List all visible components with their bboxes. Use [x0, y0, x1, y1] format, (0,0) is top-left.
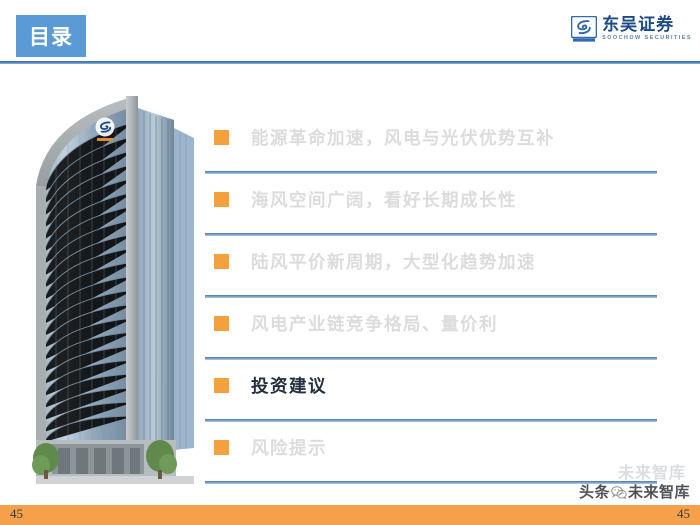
toc-row: 陆风平价新周期，大型化趋势加速 — [205, 236, 657, 286]
page-title-box: 目录 — [16, 15, 86, 57]
toc-row: 风险提示 — [205, 422, 657, 472]
page-number-left: 45 — [10, 506, 23, 522]
toc-item-6[interactable]: 风险提示 — [205, 422, 657, 484]
orange-square-bullet-icon — [214, 130, 229, 145]
wechat-icon — [611, 485, 627, 498]
slide-header: 目录 东吴证券 SOOCHOW SECURITIES — [0, 0, 700, 66]
toc-item-label: 陆风平价新周期，大型化趋势加速 — [251, 249, 536, 274]
soochow-swirl-mark-icon — [571, 16, 597, 42]
logo-name-cn: 东吴证券 — [602, 17, 692, 34]
watermark-main: 头条 未来智库 — [579, 481, 690, 502]
toc-item-label: 风险提示 — [251, 435, 327, 460]
watermark-suffix: 未来智库 — [628, 481, 690, 502]
toc-item-5-active[interactable]: 投资建议 — [205, 360, 657, 422]
toc-item-4[interactable]: 风电产业链竞争格局、量价利 — [205, 298, 657, 360]
logo-text-group: 东吴证券 SOOCHOW SECURITIES — [602, 17, 692, 41]
footer-bar: 45 45 — [0, 505, 700, 525]
page-number-right: 45 — [677, 506, 690, 522]
toc-row: 海风空间广阔，看好长期成长性 — [205, 174, 657, 224]
orange-square-bullet-icon — [214, 440, 229, 455]
page-title: 目录 — [29, 21, 73, 51]
toc-divider — [205, 481, 657, 484]
table-of-contents: 能源革命加速，风电与光伏优势互补 海风空间广阔，看好长期成长性 陆风平价新周期，… — [205, 112, 657, 484]
toc-item-2[interactable]: 海风空间广阔，看好长期成长性 — [205, 174, 657, 236]
toc-row: 能源革命加速，风电与光伏优势互补 — [205, 112, 657, 162]
office-building-photo — [22, 88, 202, 486]
orange-square-bullet-icon — [214, 254, 229, 269]
toc-item-label: 能源革命加速，风电与光伏优势互补 — [251, 125, 555, 150]
slide-root: 目录 东吴证券 SOOCHOW SECURITIES — [0, 0, 700, 525]
toc-item-label: 投资建议 — [251, 373, 327, 398]
toc-item-label: 风电产业链竞争格局、量价利 — [251, 311, 498, 336]
orange-square-bullet-icon — [214, 192, 229, 207]
watermark-prefix: 头条 — [579, 481, 610, 502]
toc-item-1[interactable]: 能源革命加速，风电与光伏优势互补 — [205, 112, 657, 174]
company-logo: 东吴证券 SOOCHOW SECURITIES — [571, 16, 692, 42]
toc-item-label: 海风空间广阔，看好长期成长性 — [251, 187, 517, 212]
orange-square-bullet-icon — [214, 316, 229, 331]
toc-row: 风电产业链竞争格局、量价利 — [205, 298, 657, 348]
orange-square-bullet-icon — [214, 378, 229, 393]
header-divider-rule — [0, 61, 700, 64]
toc-row: 投资建议 — [205, 360, 657, 410]
toc-item-3[interactable]: 陆风平价新周期，大型化趋势加速 — [205, 236, 657, 298]
logo-name-en: SOOCHOW SECURITIES — [602, 36, 692, 41]
